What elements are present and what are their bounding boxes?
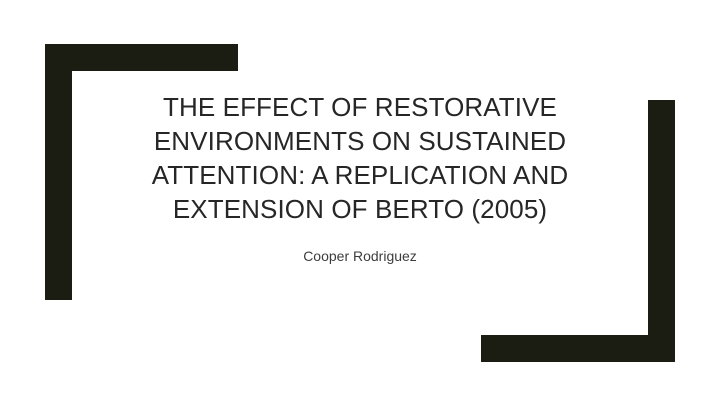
bracket-bottom-right-vertical-bar [648,100,675,362]
slide-subtitle-author: Cooper Rodriguez [110,226,610,266]
bracket-bottom-right-horizontal-bar [481,335,675,362]
slide-title: THE EFFECT OF RESTORATIVE ENVIRONMENTS O… [110,90,610,226]
bracket-top-left-vertical-bar [45,44,72,300]
bracket-top-left-horizontal-bar [45,44,238,71]
slide-text-block: THE EFFECT OF RESTORATIVE ENVIRONMENTS O… [110,90,610,266]
title-slide: THE EFFECT OF RESTORATIVE ENVIRONMENTS O… [0,0,720,405]
